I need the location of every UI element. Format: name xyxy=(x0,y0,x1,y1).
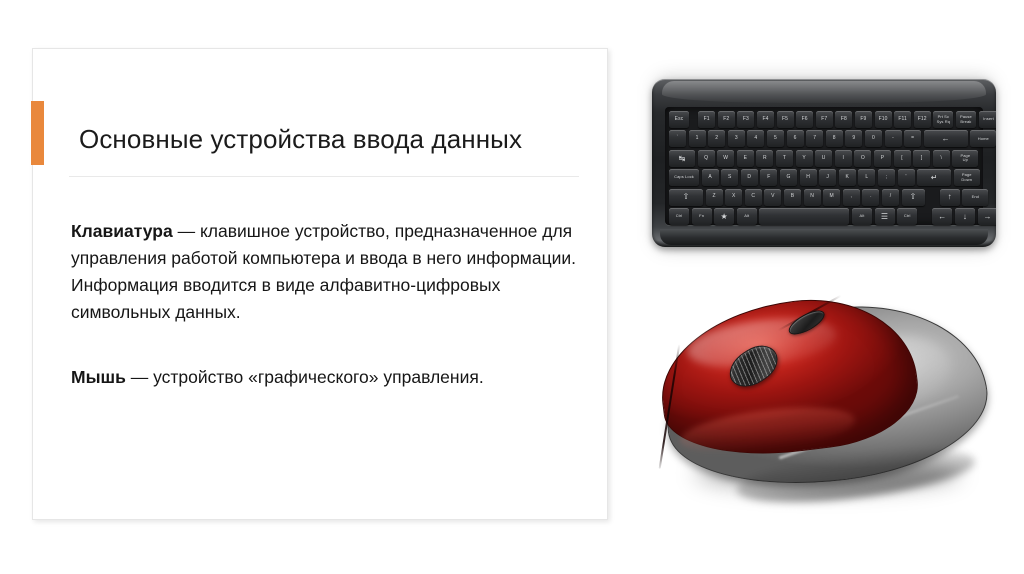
keyboard-key-3: 3 xyxy=(728,130,745,147)
keyboard-key-←: ← xyxy=(932,208,952,225)
term-mouse: Мышь xyxy=(71,367,126,387)
keyboard-key-alt: Alt xyxy=(737,208,757,225)
keyboard-key-f4: F4 xyxy=(757,111,774,128)
keyboard-key-page-up: Page Up xyxy=(952,150,978,167)
keyboard-row-number-row: `1234567890-=←Home xyxy=(669,130,979,147)
keyboard-key-a: A xyxy=(702,169,719,186)
keyboard-key-s: S xyxy=(721,169,738,186)
mouse-image xyxy=(640,278,1004,530)
keyboard-key-↵: ↵ xyxy=(917,169,951,186)
keyboard-gap xyxy=(692,111,696,128)
keyboard-key-2: 2 xyxy=(708,130,725,147)
page-title: Основные устройства ввода данных xyxy=(79,124,589,155)
keyboard-palmrest xyxy=(660,229,988,245)
keyboard-key-blank: ` xyxy=(669,130,686,147)
keyboard-key-blank: / xyxy=(882,189,899,206)
keyboard-key-f6: F6 xyxy=(796,111,813,128)
keyboard-row-function-row: EscF1F2F3F4F5F6F7F8F9F10F11F12Prt Sc Sys… xyxy=(669,111,979,128)
keyboard-key-alt: Alt xyxy=(852,208,872,225)
keyboard-key-blank: = xyxy=(904,130,921,147)
keyboard-key-d: D xyxy=(741,169,758,186)
keyboard-key-⇧: ⇧ xyxy=(902,189,925,206)
keyboard-key-g: G xyxy=(780,169,797,186)
keyboard-key-blank: ; xyxy=(878,169,895,186)
keyboard-key-6: 6 xyxy=(787,130,804,147)
keyboard-key-m: M xyxy=(823,189,840,206)
keyboard-gap xyxy=(927,189,937,206)
keyboard-key-k: K xyxy=(839,169,856,186)
keyboard-key-e: E xyxy=(737,150,754,167)
keyboard-key--: - xyxy=(885,130,902,147)
keyboard-gloss xyxy=(662,81,986,103)
keyboard-key-7: 7 xyxy=(806,130,823,147)
keyboard-key-page-down: Page Down xyxy=(954,169,980,186)
keyboard-key-p: P xyxy=(874,150,891,167)
keyboard-key-insert: Insert xyxy=(979,111,997,128)
keyboard-key-f11: F11 xyxy=(894,111,911,128)
keyboard-key-f8: F8 xyxy=(835,111,852,128)
keyboard-row-bottom-row: CtrlFn★AltAlt☰Ctrl←↓→ xyxy=(669,208,979,225)
keyboard-key-blank: ] xyxy=(913,150,930,167)
keyboard-key-f7: F7 xyxy=(816,111,833,128)
keyboard-key-w: W xyxy=(717,150,734,167)
definition-mouse: — устройство «графического» управления. xyxy=(126,367,484,387)
keyboard-key-esc: Esc xyxy=(669,111,689,128)
keyboard-key-f5: F5 xyxy=(777,111,794,128)
keyboard-keydeck: EscF1F2F3F4F5F6F7F8F9F10F11F12Prt Sc Sys… xyxy=(665,107,983,225)
accent-bar xyxy=(31,101,44,165)
keyboard-chassis: EscF1F2F3F4F5F6F7F8F9F10F11F12Prt Sc Sys… xyxy=(652,79,996,247)
keyboard-key-f9: F9 xyxy=(855,111,872,128)
keyboard-key-y: Y xyxy=(796,150,813,167)
keyboard-key-☰: ☰ xyxy=(875,208,895,225)
keyboard-key-f10: F10 xyxy=(875,111,892,128)
keyboard-key-pause-break: Pause Break xyxy=(956,111,976,128)
keyboard-key-f3: F3 xyxy=(737,111,754,128)
keyboard-key-→: → xyxy=(978,208,996,225)
keyboard-key-fn: Fn xyxy=(692,208,712,225)
keyboard-row-shift-row: ⇧ZXCVBNM,./⇧↑End xyxy=(669,189,979,206)
keyboard-key-f1: F1 xyxy=(698,111,715,128)
keyboard-key-⇧: ⇧ xyxy=(669,189,703,206)
keyboard-key-h: H xyxy=(800,169,817,186)
keyboard-key-blank: , xyxy=(843,189,860,206)
mouse-shell xyxy=(647,273,998,508)
keyboard-key-o: O xyxy=(854,150,871,167)
keyboard-gap xyxy=(920,208,930,225)
keyboard-key-8: 8 xyxy=(826,130,843,147)
keyboard-key-x: X xyxy=(725,189,742,206)
keyboard-key-z: Z xyxy=(706,189,723,206)
keyboard-row-qwerty-row: ↹QWERTYUIOP[]\Page Up xyxy=(669,150,979,167)
content-card: Основные устройства ввода данных Клавиат… xyxy=(32,48,608,520)
keyboard-key-r: R xyxy=(756,150,773,167)
keyboard-key-↑: ↑ xyxy=(940,189,960,206)
keyboard-key-f2: F2 xyxy=(718,111,735,128)
keyboard-key-↓: ↓ xyxy=(955,208,975,225)
keyboard-key-home: Home xyxy=(970,130,996,147)
keyboard-key-4: 4 xyxy=(747,130,764,147)
keyboard-key-prt-sc-sys-rq: Prt Sc Sys Rq xyxy=(933,111,953,128)
keyboard-key-ctrl: Ctrl xyxy=(669,208,689,225)
keyboard-key-blank: [ xyxy=(894,150,911,167)
keyboard-key-f12: F12 xyxy=(914,111,931,128)
title-divider xyxy=(69,176,579,177)
paragraph-keyboard: Клавиатура — клавишное устройство, предн… xyxy=(71,218,581,326)
keyboard-key-★: ★ xyxy=(714,208,734,225)
paragraph-mouse: Мышь — устройство «графического» управле… xyxy=(71,364,581,391)
keyboard-key-blank xyxy=(759,208,849,225)
keyboard-key-←: ← xyxy=(924,130,968,147)
keyboard-key-9: 9 xyxy=(845,130,862,147)
keyboard-key-i: I xyxy=(835,150,852,167)
keyboard-image: EscF1F2F3F4F5F6F7F8F9F10F11F12Prt Sc Sys… xyxy=(648,58,1000,254)
keyboard-key-blank: ' xyxy=(898,169,915,186)
keyboard-key-5: 5 xyxy=(767,130,784,147)
keyboard-key-ctrl: Ctrl xyxy=(897,208,917,225)
keyboard-key-l: L xyxy=(858,169,875,186)
keyboard-key-v: V xyxy=(764,189,781,206)
keyboard-key-t: T xyxy=(776,150,793,167)
keyboard-row-home-row: Caps LockASDFGHJKL;'↵Page Down xyxy=(669,169,979,186)
term-keyboard: Клавиатура xyxy=(71,221,173,241)
presentation-slide: Основные устройства ввода данных Клавиат… xyxy=(0,0,1024,574)
keyboard-key-blank: \ xyxy=(933,150,950,167)
keyboard-key-blank: . xyxy=(862,189,879,206)
keyboard-key-caps-lock: Caps Lock xyxy=(669,169,699,186)
keyboard-key-0: 0 xyxy=(865,130,882,147)
keyboard-key-n: N xyxy=(804,189,821,206)
keyboard-key-end: End xyxy=(962,189,988,206)
keyboard-key-↹: ↹ xyxy=(669,150,695,167)
keyboard-key-j: J xyxy=(819,169,836,186)
keyboard-key-u: U xyxy=(815,150,832,167)
keyboard-key-c: C xyxy=(745,189,762,206)
keyboard-key-1: 1 xyxy=(689,130,706,147)
keyboard-key-q: Q xyxy=(698,150,715,167)
keyboard-key-f: F xyxy=(760,169,777,186)
keyboard-key-b: B xyxy=(784,189,801,206)
